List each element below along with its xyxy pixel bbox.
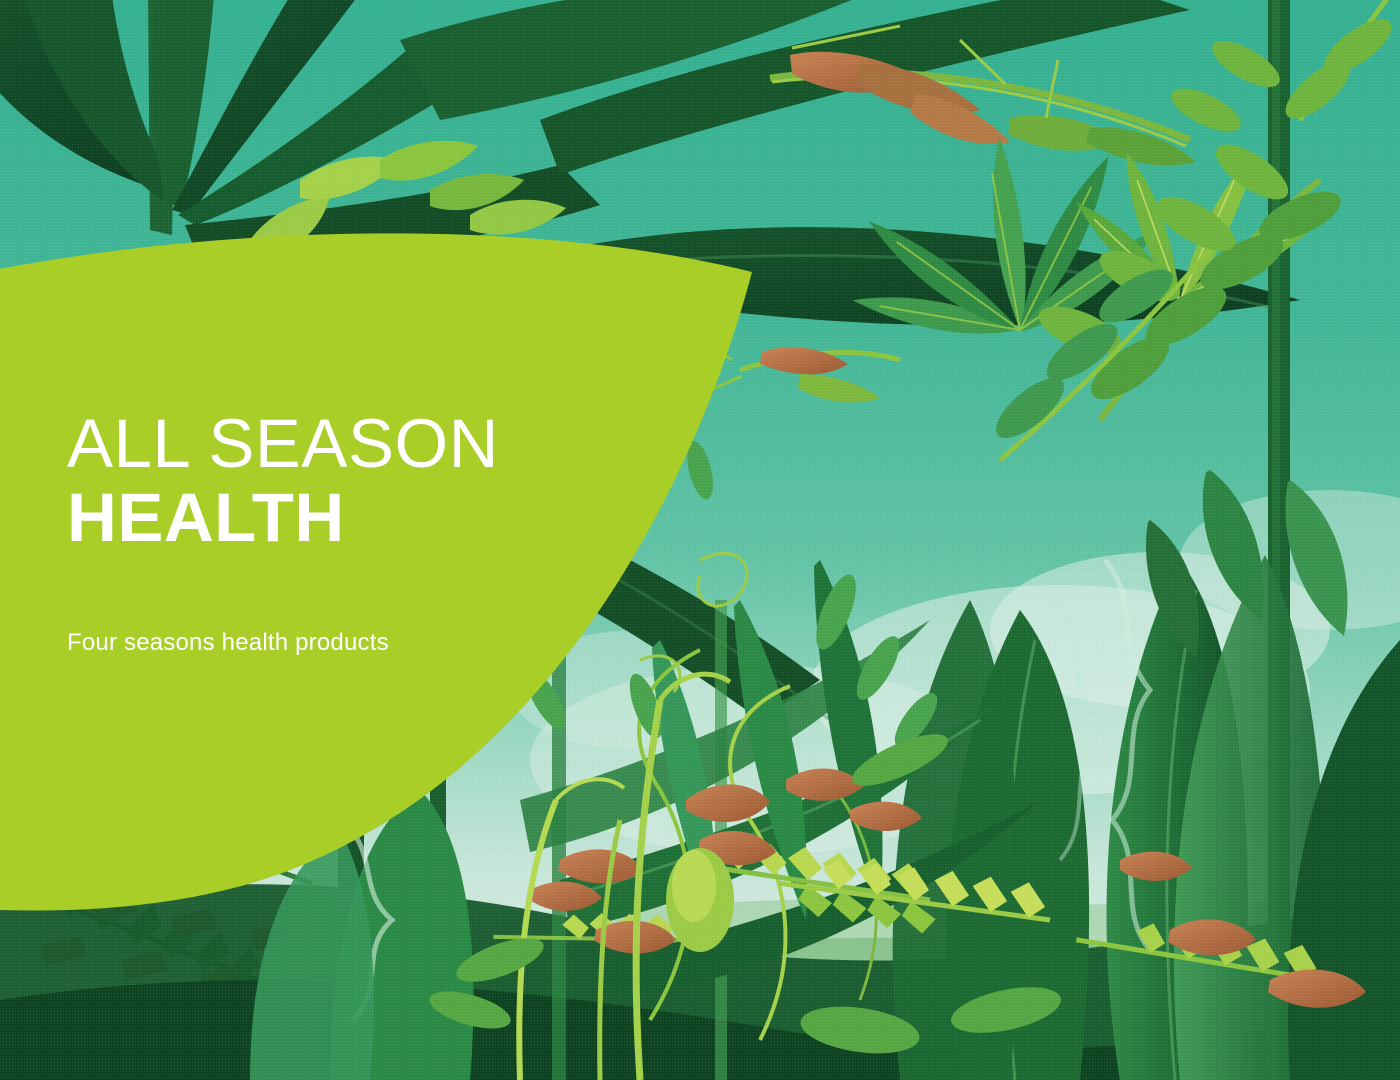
poster-text-block: ALL SEASON HEALTH Four seasons health pr… <box>67 408 627 658</box>
poster-canvas: ALL SEASON HEALTH Four seasons health pr… <box>0 0 1400 1080</box>
title-line-2: HEALTH <box>67 480 627 556</box>
title-line-1: ALL SEASON <box>67 408 627 480</box>
poster-subtitle: Four seasons health products <box>67 628 627 658</box>
